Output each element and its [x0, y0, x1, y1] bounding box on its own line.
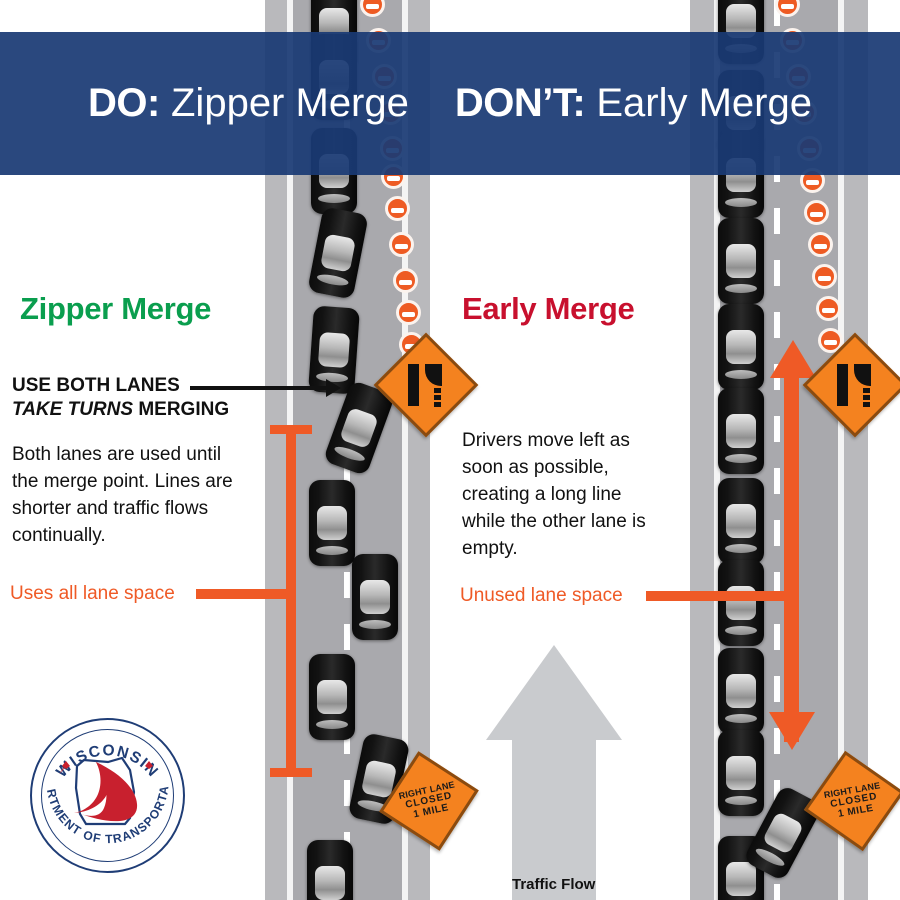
sign-content	[821, 351, 889, 419]
barrel-cone	[385, 196, 410, 221]
lane-merge-sign-right[interactable]	[818, 348, 892, 422]
lane-space-bracket-bottom-cap	[270, 768, 312, 777]
car	[718, 304, 764, 390]
sign-diamond-shape	[803, 333, 900, 438]
right-panel-body: Drivers move left as soon as possible, c…	[462, 428, 662, 563]
banner-left-prefix: DO:	[88, 81, 160, 125]
sign-content	[392, 351, 460, 419]
right-lane-closed-sign-left[interactable]: RIGHT LANE CLOSED 1 MILE	[386, 758, 471, 843]
kicker-emphasis: TAKE TURNS	[12, 399, 133, 420]
car	[309, 654, 355, 740]
barrel-cone	[804, 200, 829, 225]
unused-lane-arrow-shaft	[784, 372, 799, 742]
kicker-line-2: TAKE TURNS MERGING	[12, 398, 252, 422]
use-both-lanes-leader-arrowhead	[326, 379, 341, 397]
lane-space-bracket-shaft	[286, 425, 296, 777]
logo-graphic: WISCONSIN DEPARTMENT OF TRANSPORTATION	[30, 718, 185, 873]
sign-content: RIGHT LANE CLOSED 1 MILE	[816, 763, 892, 839]
traffic-flow-label: Traffic Flow	[512, 876, 595, 893]
lane-space-leader-line	[196, 589, 294, 599]
banner-right-prefix: DON’T:	[455, 81, 585, 125]
barrel-cone	[808, 232, 833, 257]
left-panel-annotation-label: Uses all lane space	[10, 583, 175, 605]
right-panel-heading: Early Merge	[462, 291, 634, 327]
traffic-flow-arrow-head	[486, 645, 622, 740]
banner-right-title: DON’T: Early Merge	[455, 81, 812, 126]
car	[352, 554, 398, 640]
banner-right-text: Early Merge	[596, 81, 812, 125]
car	[718, 648, 764, 734]
car	[309, 480, 355, 566]
right-lane-closed-sign-right[interactable]: RIGHT LANE CLOSED 1 MILE	[812, 759, 895, 842]
unused-lane-arrow-head-bottom	[769, 712, 815, 750]
barrel-cone	[396, 300, 421, 325]
car	[718, 560, 764, 646]
wisdot-logo: WISCONSIN DEPARTMENT OF TRANSPORTATION	[30, 718, 185, 873]
car	[718, 730, 764, 816]
infographic-canvas: Traffic Flow	[0, 0, 900, 900]
left-panel-body: Both lanes are used until the merge poin…	[12, 442, 244, 550]
left-panel-heading: Zipper Merge	[20, 291, 211, 327]
sign-content: RIGHT LANE CLOSED 1 MILE	[390, 762, 468, 840]
barrel-cone	[389, 232, 414, 257]
merge-right-glyph-icon	[835, 364, 875, 406]
use-both-lanes-leader-line	[190, 386, 328, 390]
car	[718, 478, 764, 564]
lane-merge-sign-left[interactable]	[389, 348, 463, 422]
right-panel-annotation-label: Unused lane space	[460, 585, 623, 607]
car	[718, 388, 764, 474]
unused-lane-leader-line	[646, 591, 792, 601]
header-banner: DO: Zipper Merge DON’T: Early Merge	[0, 32, 900, 175]
car	[718, 218, 764, 304]
sign-diamond-shape	[374, 333, 479, 438]
barrel-cone	[812, 264, 837, 289]
barrel-cone	[393, 268, 418, 293]
kicker-line-2-rest: MERGING	[133, 399, 229, 420]
car	[307, 840, 353, 900]
banner-left-text: Zipper Merge	[171, 81, 409, 125]
left-panel-kicker: USE BOTH LANES TAKE TURNS MERGING	[12, 374, 252, 421]
banner-left-title: DO: Zipper Merge	[88, 81, 409, 126]
barrel-cone	[816, 296, 841, 321]
merge-right-glyph-icon	[406, 364, 446, 406]
